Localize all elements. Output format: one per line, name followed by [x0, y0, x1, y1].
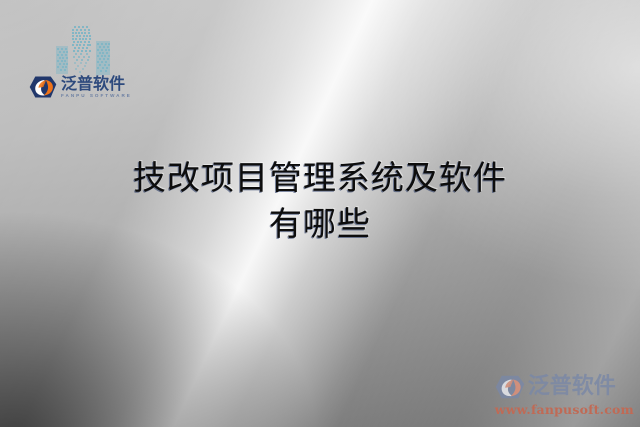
fanpu-logo-mark-watermark-icon [495, 373, 525, 401]
watermark: 泛普软件 www.fanpusoft.com [495, 373, 634, 417]
fanpu-logo-mark-icon [29, 74, 57, 100]
watermark-logo: 泛普软件 [495, 373, 634, 401]
watermark-brand-name: 泛普软件 [528, 376, 616, 398]
headline-title: 技改项目管理系统及软件 有哪些 [0, 155, 640, 246]
promo-banner: 泛普软件 FANPU SOFTWARE 技改项目管理系统及软件 有哪些 泛普软件… [0, 0, 640, 427]
brand-logo: 泛普软件 FANPU SOFTWARE [29, 74, 132, 100]
brand-name-en: FANPU SOFTWARE [61, 94, 132, 99]
brand-wordmark: 泛普软件 FANPU SOFTWARE [61, 76, 132, 99]
brand-name-cn: 泛普软件 [61, 76, 132, 92]
city-skyline-icon [50, 22, 122, 78]
watermark-url: www.fanpusoft.com [495, 402, 634, 417]
